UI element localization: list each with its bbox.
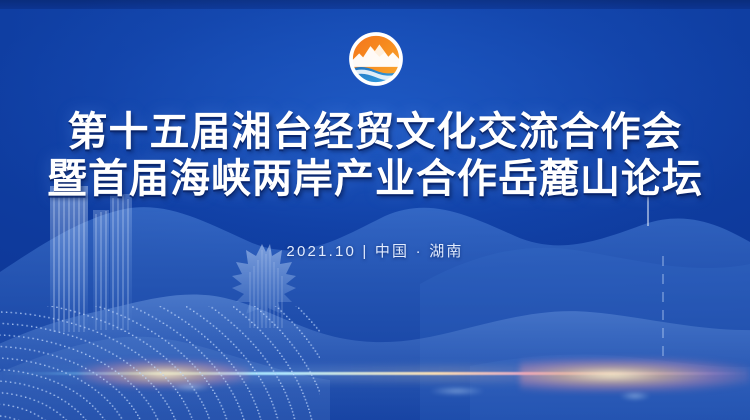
title-block: 第十五届湘台经贸文化交流合作会 暨首届海峡两岸产业合作岳麓山论坛 bbox=[0, 108, 750, 202]
conference-banner: 第十五届湘台经贸文化交流合作会 暨首届海峡两岸产业合作岳麓山论坛 2021.10… bbox=[0, 0, 750, 420]
title-line-2: 暨首届海峡两岸产业合作岳麓山论坛 bbox=[0, 155, 750, 202]
flare-right bbox=[520, 358, 750, 392]
flare-left bbox=[80, 360, 250, 388]
flare-speck-1 bbox=[170, 383, 210, 391]
title-line-1: 第十五届湘台经贸文化交流合作会 bbox=[0, 108, 750, 155]
subtitle-date-location: 2021.10 | 中国 · 湖南 bbox=[0, 240, 750, 261]
flare-speck-3 bbox=[620, 392, 650, 400]
flare-speck-2 bbox=[430, 387, 484, 395]
top-edge-strip bbox=[0, 0, 750, 9]
conference-emblem bbox=[348, 31, 404, 87]
